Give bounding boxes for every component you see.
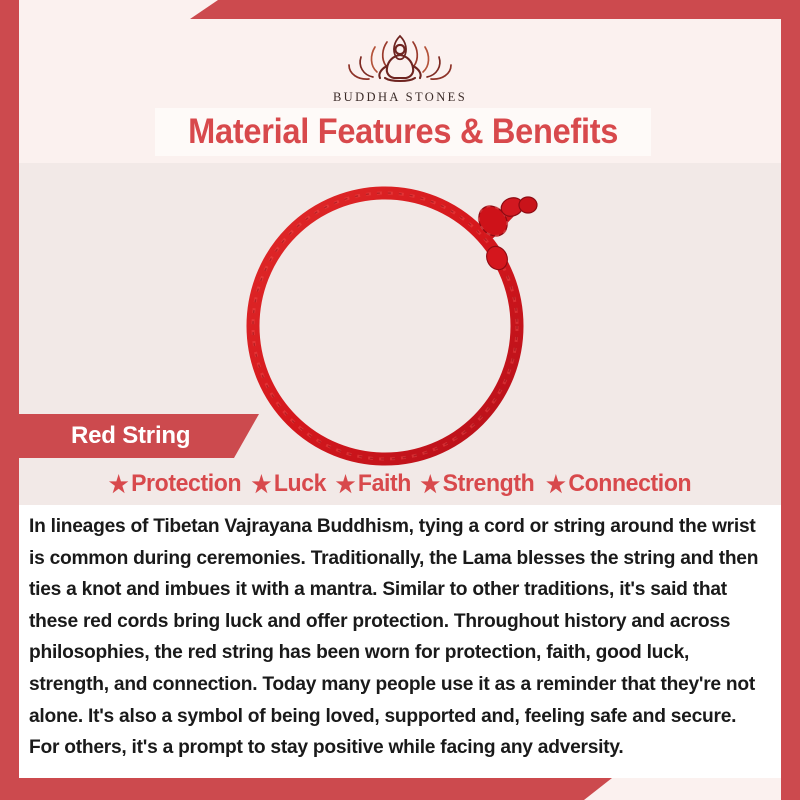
feature-item-faith: ★ Faith [335, 470, 410, 498]
product-label: Red String [71, 422, 190, 450]
frame-bottom-bar [0, 778, 800, 800]
red-string-bracelet-image [235, 163, 565, 493]
brand-name: BUDDHA STONES [333, 90, 467, 105]
header: BUDDHA STONES Material Features & Benefi… [19, 19, 781, 163]
feature-label: Luck [274, 470, 326, 498]
feature-item-luck: ★ Luck [251, 470, 326, 498]
feature-label: Protection [131, 470, 241, 498]
infographic-poster: BUDDHA STONES Material Features & Benefi… [0, 0, 800, 800]
feature-label: Faith [357, 470, 410, 498]
feature-label: Connection [568, 470, 691, 498]
feature-label: Strength [443, 470, 535, 498]
frame-top-bar [0, 0, 800, 19]
feature-item-connection: ★ Connection [546, 470, 691, 498]
star-icon: ★ [546, 473, 565, 496]
feature-item-strength: ★ Strength [420, 470, 534, 498]
lotus-meditating-figure-icon [325, 25, 475, 87]
description-panel: In lineages of Tibetan Vajrayana Buddhis… [19, 505, 781, 778]
star-icon: ★ [420, 473, 439, 496]
star-icon: ★ [251, 473, 270, 496]
title-banner: Material Features & Benefits [155, 108, 651, 156]
star-icon: ★ [109, 473, 128, 496]
brand-logo: BUDDHA STONES [19, 25, 781, 105]
page-title: Material Features & Benefits [188, 112, 618, 152]
frame-right-strip [781, 0, 800, 800]
frame-left-strip [0, 0, 19, 800]
star-icon: ★ [335, 473, 354, 496]
product-label-ribbon: Red String [19, 414, 259, 458]
description-text: In lineages of Tibetan Vajrayana Buddhis… [29, 511, 767, 764]
feature-item-protection: ★ Protection [109, 470, 241, 498]
feature-list: ★ Protection ★ Luck ★ Faith ★ Strength ★… [19, 464, 781, 504]
